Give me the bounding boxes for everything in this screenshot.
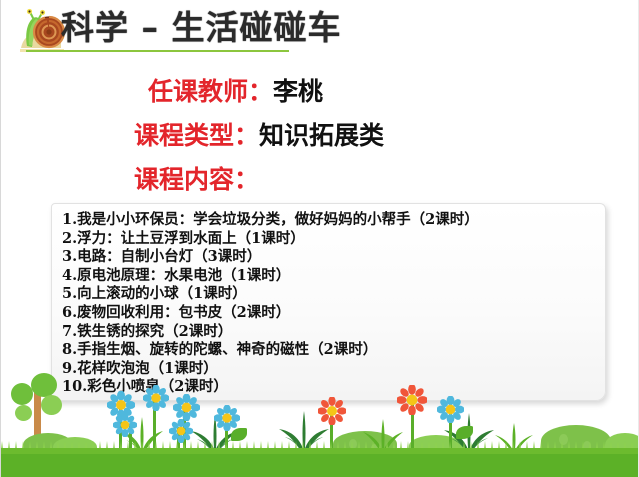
bottom-decoration [1,387,639,477]
flower-blue-icon [437,396,464,423]
info-label-teacher: 任课教师： [148,77,273,106]
list-item: 2.浮力：让土豆浮到水面上（1课时） [62,230,595,249]
info-label-type: 课程类型： [134,121,259,150]
info-value-teacher: 李桃 [273,77,323,106]
grass-band [1,451,639,477]
list-item: 1.我是小小环保员：学会垃圾分类，做好妈妈的小帮手（2课时） [62,211,595,230]
tree-foliage-icon [31,373,57,397]
flower-blue-icon [173,394,200,421]
flower-blue-icon [113,413,137,437]
list-item: 6.废物回收利用：包书皮（2课时） [62,304,595,323]
list-item: 7.铁生锈的探究（2课时） [62,323,595,342]
info-line-content: 课程内容： [1,158,639,202]
title-underline [26,50,289,52]
tree-foliage-icon [11,383,33,405]
course-info-block: 任课教师：李桃 课程类型：知识拓展类 课程内容： [1,70,639,202]
list-item: 9.花样吹泡泡（1课时） [62,360,595,379]
list-item: 5.向上滚动的小球（1课时） [62,285,595,304]
flower-orange-icon [397,385,427,415]
tree-foliage-icon [41,395,62,415]
leaf-shape [231,428,247,441]
info-line-type: 课程类型：知识拓展类 [1,114,639,158]
list-item: 3.电路：自制小台灯（3课时） [62,248,595,267]
slide-header: 科学 – 生活碰碰车 [1,0,639,60]
list-item: 8.手指生烟、旋转的陀螺、神奇的磁性（2课时） [62,341,595,360]
page-title: 科学 – 生活碰碰车 [61,6,341,50]
course-content-box: 1.我是小小环保员：学会垃圾分类，做好妈妈的小帮手（2课时） 2.浮力：让土豆浮… [51,203,606,401]
flower-blue-icon [143,385,169,411]
flower-orange-icon [318,397,346,425]
list-item: 4.原电池原理：水果电池（1课时） [62,267,595,286]
flower-blue-icon [214,405,240,431]
info-label-content: 课程内容： [134,165,259,194]
info-value-type: 知识拓展类 [259,121,384,150]
info-line-teacher: 任课教师：李桃 [1,70,639,114]
slide-canvas: 科学 – 生活碰碰车 任课教师：李桃 课程类型：知识拓展类 课程内容： 1.我是… [0,0,639,477]
tree-foliage-icon [15,405,32,421]
flower-blue-icon [169,419,193,443]
